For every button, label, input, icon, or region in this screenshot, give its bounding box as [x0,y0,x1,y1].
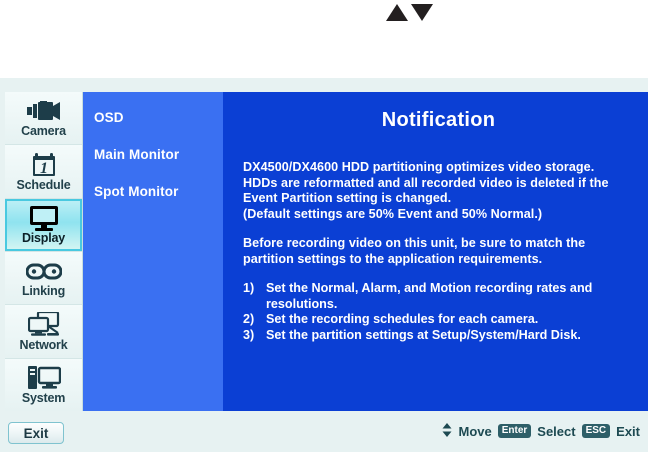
sidebar-item-label: Schedule [17,179,71,192]
step-number: 1) [243,281,259,312]
notification-content: Notification DX4500/DX4600 HDD partition… [223,92,648,411]
top-arrow-strip [0,0,648,78]
sidebar-item-schedule[interactable]: 1 Schedule [5,145,82,198]
submenu-list: OSD Main Monitor Spot Monitor [83,92,223,411]
step-text: Set the recording schedules for each cam… [266,312,634,328]
hint-move-label: Move [458,424,491,439]
step-text: Set the Normal, Alarm, and Motion record… [266,281,634,312]
arrow-pair [386,4,433,21]
osd-window: Camera 1 Schedule [0,78,648,452]
menu-item-main-monitor[interactable]: Main Monitor [83,147,223,163]
step-number: 3) [243,328,259,344]
key-hints: Move Enter Select ESC Exit [442,423,640,439]
exit-button[interactable]: Exit [8,422,64,444]
camera-icon [27,98,61,124]
page-title: Notification [243,109,634,132]
menu-item-osd[interactable]: OSD [83,110,223,126]
sidebar-item-system[interactable]: System [5,359,82,411]
sidebar-item-label: Camera [21,125,66,138]
updown-arrow-icon [442,423,452,439]
sidebar-item-label: Display [22,232,65,245]
esc-keycap: ESC [582,424,611,438]
notification-steps: 1) Set the Normal, Alarm, and Motion rec… [243,281,634,343]
step-text: Set the partition settings at Setup/Syst… [266,328,634,344]
hint-select-label: Select [537,424,575,439]
step-number: 2) [243,312,259,328]
down-triangle-icon[interactable] [411,4,433,21]
monitor-icon [29,205,59,231]
sidebar-item-display[interactable]: Display [5,199,82,252]
sidebar-item-label: System [22,392,65,405]
calendar-icon: 1 [31,152,57,178]
list-item: 2) Set the recording schedules for each … [243,312,634,328]
list-item: 3) Set the partition settings at Setup/S… [243,328,634,344]
bottom-bar: Exit Move Enter Select ESC Exit [0,419,648,452]
sidebar-item-label: Linking [22,285,65,298]
hint-exit-label: Exit [616,424,640,439]
up-triangle-icon[interactable] [386,4,408,21]
sidebar-item-linking[interactable]: Linking [5,252,82,305]
setup-panel: Camera 1 Schedule [5,92,648,411]
notification-paragraph-2: Before recording video on this unit, be … [243,236,634,267]
sidebar-item-label: Network [20,339,68,352]
sidebar-item-network[interactable]: Network [5,305,82,358]
server-icon [27,365,61,391]
sidebar-item-camera[interactable]: Camera [5,92,82,145]
notification-paragraph-1: DX4500/DX4600 HDD partitioning optimizes… [243,160,634,222]
menu-item-spot-monitor[interactable]: Spot Monitor [83,184,223,200]
list-item: 1) Set the Normal, Alarm, and Motion rec… [243,281,634,312]
chain-link-icon [26,258,62,284]
sidebar: Camera 1 Schedule [5,92,83,411]
network-icon [28,312,60,338]
enter-keycap: Enter [498,424,532,438]
svg-text:1: 1 [40,160,48,177]
